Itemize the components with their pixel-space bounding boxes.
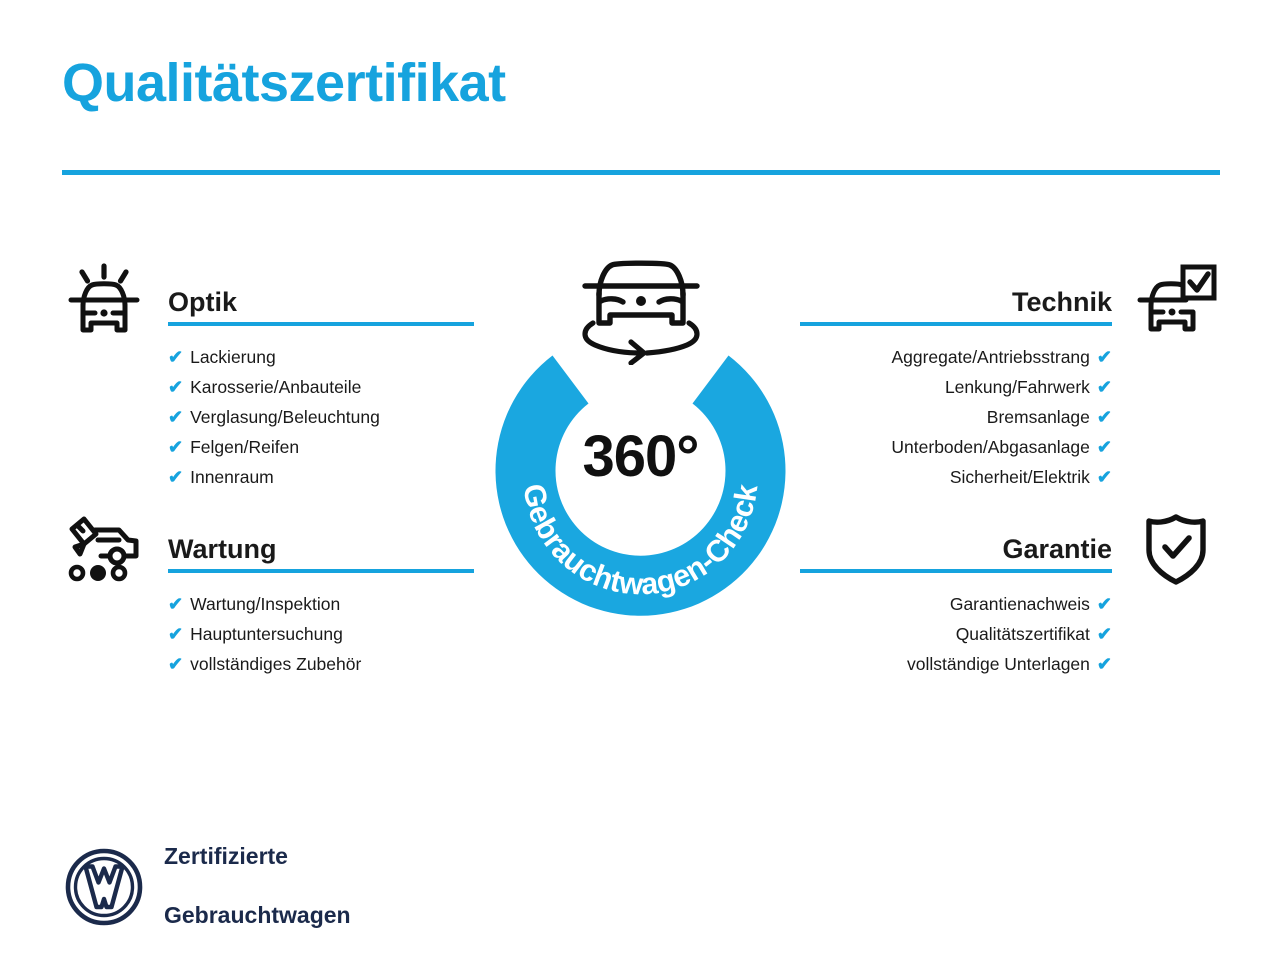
section-technik: Technik Aggregate/Antriebsstrang✔ Lenkun… [800, 258, 1218, 492]
section-garantie-list: Garantienachweis✔ Qualitätszertifikat✔ v… [800, 583, 1218, 679]
list-item-label: Innenraum [190, 467, 274, 487]
check-icon: ✔ [1097, 407, 1112, 427]
section-technik-title: Technik [1012, 287, 1112, 318]
section-wartung-list: ✔Wartung/Inspektion ✔Hauptuntersuchung ✔… [62, 583, 474, 679]
check-icon: ✔ [1097, 467, 1112, 487]
list-item: ✔Karosserie/Anbauteile [168, 372, 474, 402]
list-item-label: Unterboden/Abgasanlage [891, 437, 1090, 457]
section-wartung: Wartung ✔Wartung/Inspektion ✔Hauptunters… [62, 505, 474, 679]
list-item-label: Bremsanlage [987, 407, 1090, 427]
car-service-pen-icon [62, 507, 146, 591]
list-item: Sicherheit/Elektrik✔ [840, 462, 1112, 492]
list-item: Lenkung/Fahrwerk✔ [840, 372, 1112, 402]
shield-check-icon [1134, 507, 1218, 591]
check-icon: ✔ [1097, 594, 1112, 614]
section-optik-header: Optik [62, 258, 474, 336]
list-item: Qualitätszertifikat✔ [840, 619, 1112, 649]
list-item-label: Qualitätszertifikat [956, 624, 1090, 644]
section-wartung-header: Wartung [62, 505, 474, 583]
list-item-label: Lenkung/Fahrwerk [945, 377, 1090, 397]
section-garantie-rule [800, 569, 1112, 573]
check-icon: ✔ [1097, 347, 1112, 367]
list-item: ✔Lackierung [168, 342, 474, 372]
section-garantie-title: Garantie [1002, 534, 1112, 565]
section-optik-title: Optik [168, 287, 237, 318]
section-wartung-title: Wartung [168, 534, 276, 565]
list-item-label: Hauptuntersuchung [190, 624, 343, 644]
check-icon: ✔ [168, 347, 183, 367]
list-item-label: vollständiges Zubehör [190, 654, 361, 674]
check-icon: ✔ [168, 594, 183, 614]
car-checkbox-icon [1134, 260, 1218, 344]
vw-logo [64, 847, 144, 927]
page-title: Qualitätszertifikat [62, 54, 506, 113]
check-icon: ✔ [1097, 654, 1112, 674]
footer-text: Zertifizierte Gebrauchtwagen [164, 813, 351, 960]
section-technik-list: Aggregate/Antriebsstrang✔ Lenkung/Fahrwe… [800, 336, 1218, 492]
list-item: ✔Hauptuntersuchung [168, 619, 474, 649]
badge-center-label: 360° [468, 423, 813, 490]
check-icon: ✔ [168, 377, 183, 397]
list-item: ✔Wartung/Inspektion [168, 589, 474, 619]
section-technik-header: Technik [800, 258, 1218, 336]
section-garantie-header: Garantie [800, 505, 1218, 583]
title-divider [62, 170, 1220, 175]
section-optik-list: ✔Lackierung ✔Karosserie/Anbauteile ✔Verg… [62, 336, 474, 492]
list-item: vollständige Unterlagen✔ [840, 649, 1112, 679]
list-item: ✔Verglasung/Beleuchtung [168, 402, 474, 432]
check-icon: ✔ [1097, 377, 1112, 397]
check-icon: ✔ [168, 624, 183, 644]
car-rotation-icon [565, 245, 717, 365]
list-item-label: Karosserie/Anbauteile [190, 377, 361, 397]
list-item: Bremsanlage✔ [840, 402, 1112, 432]
list-item-label: Lackierung [190, 347, 276, 367]
section-wartung-rule [168, 569, 474, 573]
list-item-label: Felgen/Reifen [190, 437, 299, 457]
list-item-label: Garantienachweis [950, 594, 1090, 614]
check-icon: ✔ [168, 437, 183, 457]
list-item-label: Sicherheit/Elektrik [950, 467, 1090, 487]
list-item: ✔vollständiges Zubehör [168, 649, 474, 679]
footer-line-1: Zertifizierte [164, 842, 351, 871]
check-icon: ✔ [168, 467, 183, 487]
list-item-label: Wartung/Inspektion [190, 594, 340, 614]
list-item-label: Aggregate/Antriebsstrang [891, 347, 1089, 367]
check-icon: ✔ [1097, 624, 1112, 644]
list-item-label: Verglasung/Beleuchtung [190, 407, 380, 427]
footer-logo: Zertifizierte Gebrauchtwagen [64, 813, 351, 960]
section-optik: Optik ✔Lackierung ✔Karosserie/Anbauteile… [62, 258, 474, 492]
car-shine-icon [62, 260, 146, 344]
section-optik-rule [168, 322, 474, 326]
gebrauchtwagen-check-badge: Gebrauchtwagen-Check 360° [468, 245, 813, 635]
section-technik-rule [800, 322, 1112, 326]
list-item: ✔Felgen/Reifen [168, 432, 474, 462]
check-icon: ✔ [168, 654, 183, 674]
check-icon: ✔ [1097, 437, 1112, 457]
check-icon: ✔ [168, 407, 183, 427]
section-garantie: Garantie Garantienachweis✔ Qualitätszert… [800, 505, 1218, 679]
list-item: ✔Innenraum [168, 462, 474, 492]
footer-line-2: Gebrauchtwagen [164, 901, 351, 930]
list-item: Unterboden/Abgasanlage✔ [840, 432, 1112, 462]
list-item-label: vollständige Unterlagen [907, 654, 1090, 674]
list-item: Garantienachweis✔ [840, 589, 1112, 619]
list-item: Aggregate/Antriebsstrang✔ [840, 342, 1112, 372]
